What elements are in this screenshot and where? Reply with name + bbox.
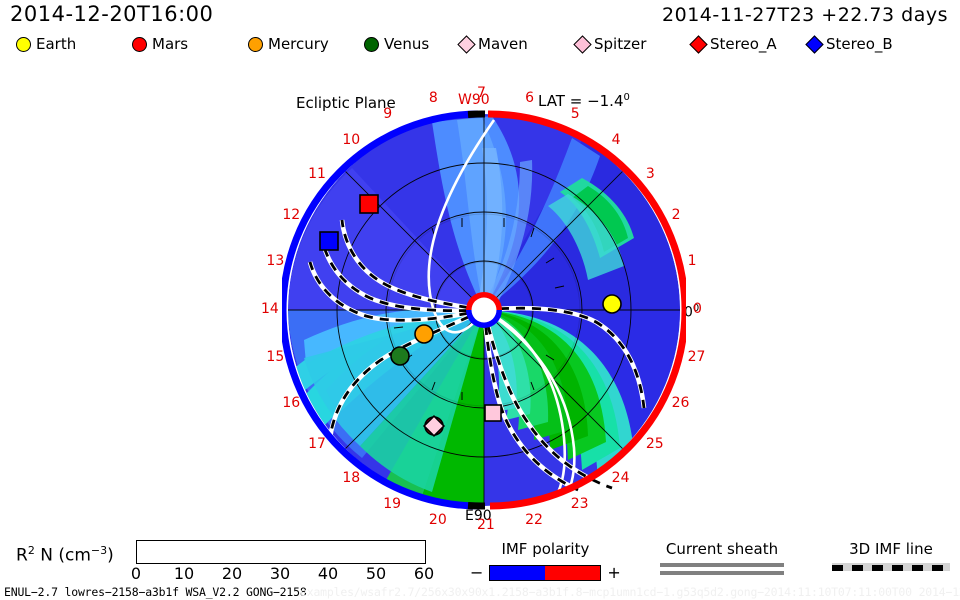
sheath-swatch-line-2 xyxy=(660,571,784,575)
colorbar-tick-30: 30 xyxy=(270,564,290,583)
colorbar-tick-20: 20 xyxy=(222,564,242,583)
colorbar-gradient xyxy=(136,540,426,564)
imf-3d-line-title: 3D IMF line xyxy=(832,540,950,558)
timestamp-left: 2014-12-20T16:00 xyxy=(10,2,213,26)
angle-label-8: 8 xyxy=(429,90,438,106)
colorbar-label: R2 N (cm−3) xyxy=(16,544,114,566)
maven-marker-icon xyxy=(457,35,475,53)
legend-item-mars[interactable]: Mars xyxy=(132,36,188,52)
cb-rest: N (cm xyxy=(35,546,91,566)
legend-item-stereo_a[interactable]: Stereo_A xyxy=(692,36,777,52)
polar-disc-svg xyxy=(282,108,686,512)
stereo_b-marker-icon xyxy=(805,35,823,53)
legend-label: Earth xyxy=(36,36,76,52)
legend-item-venus[interactable]: Venus xyxy=(364,36,429,52)
colorbar-tick-0: 0 xyxy=(131,564,141,583)
angle-label-1: 1 xyxy=(688,253,697,269)
imf-polarity-title: IMF polarity xyxy=(470,540,621,558)
venus-marker-icon xyxy=(364,37,379,52)
object-legend: EarthMarsMercuryVenusMavenSpitzerStereo_… xyxy=(8,36,952,60)
legend-item-mercury[interactable]: Mercury xyxy=(248,36,329,52)
polarity-colorbar xyxy=(489,565,601,581)
legend-label: Spitzer xyxy=(594,36,646,52)
marker-mercury[interactable] xyxy=(415,325,433,343)
cb-sup2: 2 xyxy=(28,544,35,557)
zero-degree-sup: 0 xyxy=(693,303,699,314)
polarity-minus-sign: − xyxy=(470,563,483,582)
current-sheath-title: Current sheath xyxy=(660,540,784,558)
polarity-plus-sign: + xyxy=(607,563,620,582)
sun-marker xyxy=(466,292,502,328)
mars-marker-icon xyxy=(132,37,147,52)
solar-wind-polar-plot: 2014-12-20T16:00 2014-11-27T23 +22.73 da… xyxy=(0,0,960,600)
colorbar-tick-50: 50 xyxy=(366,564,386,583)
sheath-swatch-line-1 xyxy=(660,563,784,567)
path-watermark: examples/wsafr2.7/256x30x90x1.2158−a3b1f… xyxy=(300,585,960,599)
angle-label-22: 22 xyxy=(525,512,543,528)
marker-stereo-a[interactable] xyxy=(360,195,378,213)
imf-3d-line-swatch xyxy=(832,563,950,571)
legend-label: Venus xyxy=(384,36,429,52)
mercury-marker-icon xyxy=(248,37,263,52)
current-sheath-legend: Current sheath xyxy=(660,540,784,575)
legend-item-earth[interactable]: Earth xyxy=(16,36,76,52)
model-credit: ENUL−2.7 lowres−2158−a3b1f WSA_V2.2 GONG… xyxy=(4,585,307,599)
spitzer-marker-icon xyxy=(573,35,591,53)
angle-label-27: 27 xyxy=(688,349,706,365)
imf-polarity-legend: IMF polarity − + xyxy=(470,540,621,582)
stereo_a-marker-icon xyxy=(689,35,707,53)
cb-close: ) xyxy=(107,546,114,566)
earth-marker-icon xyxy=(16,37,31,52)
west-90-label: W90 xyxy=(458,92,490,108)
marker-spitzer[interactable] xyxy=(485,405,501,421)
zero-degree-label: 00 xyxy=(684,303,699,321)
legend-label: Stereo_A xyxy=(710,36,777,52)
marker-earth[interactable] xyxy=(603,295,621,313)
cb-r: R xyxy=(16,546,28,566)
angle-label-6: 6 xyxy=(525,90,534,106)
colorbar-tick-60: 60 xyxy=(414,564,434,583)
angle-label-20: 20 xyxy=(429,512,447,528)
colorbar-tick-10: 10 xyxy=(174,564,194,583)
legend-item-maven[interactable]: Maven xyxy=(460,36,528,52)
marker-stereo-b[interactable] xyxy=(320,232,338,250)
legend-item-spitzer[interactable]: Spitzer xyxy=(576,36,646,52)
marker-venus[interactable] xyxy=(391,347,409,365)
legend-label: Mars xyxy=(152,36,188,52)
colorbar-tick-40: 40 xyxy=(318,564,338,583)
cb-supneg3: −3 xyxy=(91,544,107,557)
angle-label-14: 14 xyxy=(261,301,279,317)
timestamp-right: 2014-11-27T23 +22.73 days xyxy=(662,4,948,26)
imf-3d-line-legend: 3D IMF line xyxy=(832,540,950,571)
legend-label: Mercury xyxy=(268,36,329,52)
legend-item-stereo_b[interactable]: Stereo_B xyxy=(808,36,893,52)
legend-label: Stereo_B xyxy=(826,36,893,52)
degree-sup: 0 xyxy=(624,92,630,103)
polar-heatmap xyxy=(282,108,686,512)
legend-label: Maven xyxy=(478,36,528,52)
